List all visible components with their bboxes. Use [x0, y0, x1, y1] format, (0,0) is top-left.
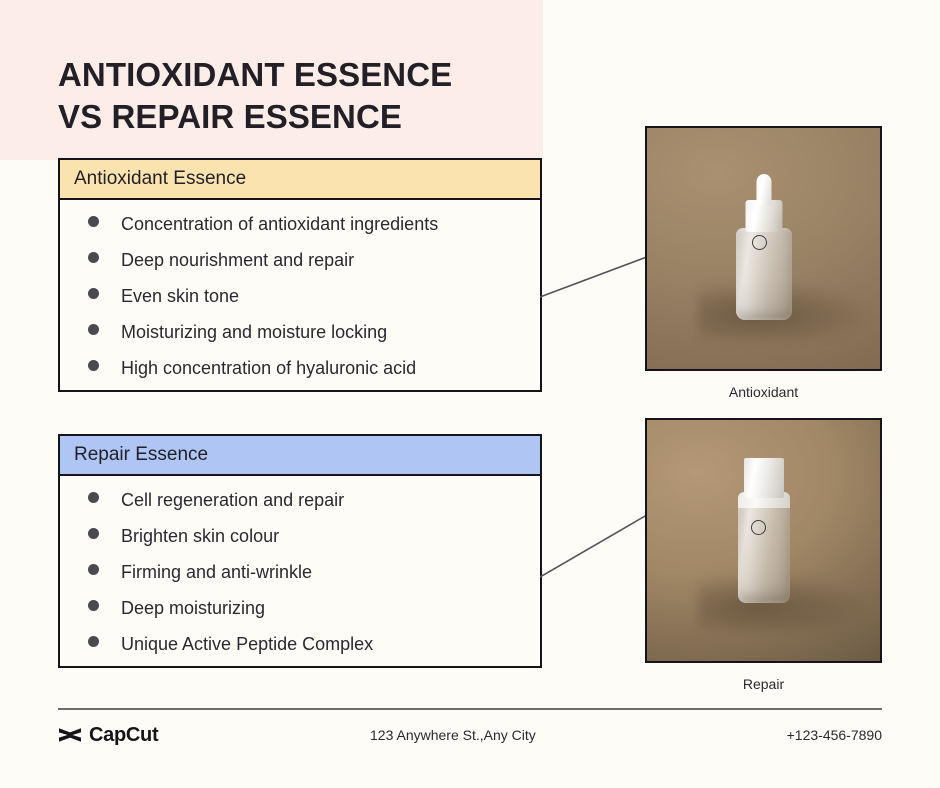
- brand-lockup: CapCut: [58, 724, 158, 747]
- card-body-repair: Cell regeneration and repair Brighten sk…: [60, 476, 540, 670]
- list-item-label: High concentration of hyaluronic acid: [121, 358, 416, 379]
- card-header-antioxidant: Antioxidant Essence: [60, 160, 540, 200]
- product-image-repair: [645, 418, 882, 663]
- bullet-dot-icon: [88, 528, 99, 539]
- card-header-repair: Repair Essence: [60, 436, 540, 476]
- card-body-antioxidant: Concentration of antioxidant ingredients…: [60, 200, 540, 394]
- bullet-dot-icon: [88, 324, 99, 335]
- footer: CapCut 123 Anywhere St.,Any City +123-45…: [58, 718, 882, 752]
- list-item-label: Moisturizing and moisture locking: [121, 322, 387, 343]
- list-item: Even skin tone: [60, 286, 540, 322]
- bullet-dot-icon: [88, 216, 99, 227]
- list-item: Firming and anti-wrinkle: [60, 562, 540, 598]
- list-item: Cell regeneration and repair: [60, 490, 540, 526]
- list-item: High concentration of hyaluronic acid: [60, 358, 540, 394]
- infographic-canvas: ANTIOXIDANT ESSENCE VS REPAIR ESSENCE An…: [0, 0, 940, 788]
- photo-caption: Repair: [645, 676, 882, 692]
- list-item: Moisturizing and moisture locking: [60, 322, 540, 358]
- list-item: Deep moisturizing: [60, 598, 540, 634]
- comparison-card-antioxidant: Antioxidant Essence Concentration of ant…: [58, 158, 542, 392]
- list-item-label: Concentration of antioxidant ingredients: [121, 214, 438, 235]
- list-item-label: Cell regeneration and repair: [121, 490, 344, 511]
- footer-phone: +123-456-7890: [787, 727, 882, 743]
- annotation-circle-icon: [751, 520, 766, 535]
- list-item: Unique Active Peptide Complex: [60, 634, 540, 670]
- photo-caption: Antioxidant: [645, 384, 882, 400]
- list-item-label: Deep moisturizing: [121, 598, 265, 619]
- brand-name: CapCut: [89, 724, 158, 747]
- list-item-label: Even skin tone: [121, 286, 239, 307]
- footer-divider: [58, 708, 882, 710]
- list-item-label: Brighten skin colour: [121, 526, 279, 547]
- bottle-body: [738, 498, 790, 603]
- bottle-dropper-bulb: [756, 174, 771, 206]
- bullet-dot-icon: [88, 252, 99, 263]
- list-item: Deep nourishment and repair: [60, 250, 540, 286]
- leader-line-repair: [540, 512, 652, 580]
- leader-line-antioxidant: [540, 255, 652, 300]
- product-image-antioxidant: [645, 126, 882, 371]
- footer-address: 123 Anywhere St.,Any City: [370, 727, 536, 743]
- card-header-label: Repair Essence: [74, 444, 208, 466]
- list-item: Concentration of antioxidant ingredients: [60, 214, 540, 250]
- bullet-dot-icon: [88, 564, 99, 575]
- list-item-label: Deep nourishment and repair: [121, 250, 354, 271]
- bullet-dot-icon: [88, 492, 99, 503]
- capcut-bowtie-logo-icon: [58, 725, 82, 745]
- card-header-label: Antioxidant Essence: [74, 168, 246, 190]
- bullet-dot-icon: [88, 360, 99, 371]
- list-item: Brighten skin colour: [60, 526, 540, 562]
- bullet-dot-icon: [88, 636, 99, 647]
- comparison-card-repair: Repair Essence Cell regeneration and rep…: [58, 434, 542, 668]
- product-photo-block-antioxidant: Antioxidant: [645, 126, 882, 400]
- annotation-circle-icon: [752, 235, 767, 250]
- bullet-dot-icon: [88, 600, 99, 611]
- list-item-label: Unique Active Peptide Complex: [121, 634, 373, 655]
- bottle-cap: [744, 458, 784, 498]
- page-title: ANTIOXIDANT ESSENCE VS REPAIR ESSENCE: [58, 54, 528, 138]
- product-photo-block-repair: Repair: [645, 418, 882, 692]
- list-item-label: Firming and anti-wrinkle: [121, 562, 312, 583]
- bullet-dot-icon: [88, 288, 99, 299]
